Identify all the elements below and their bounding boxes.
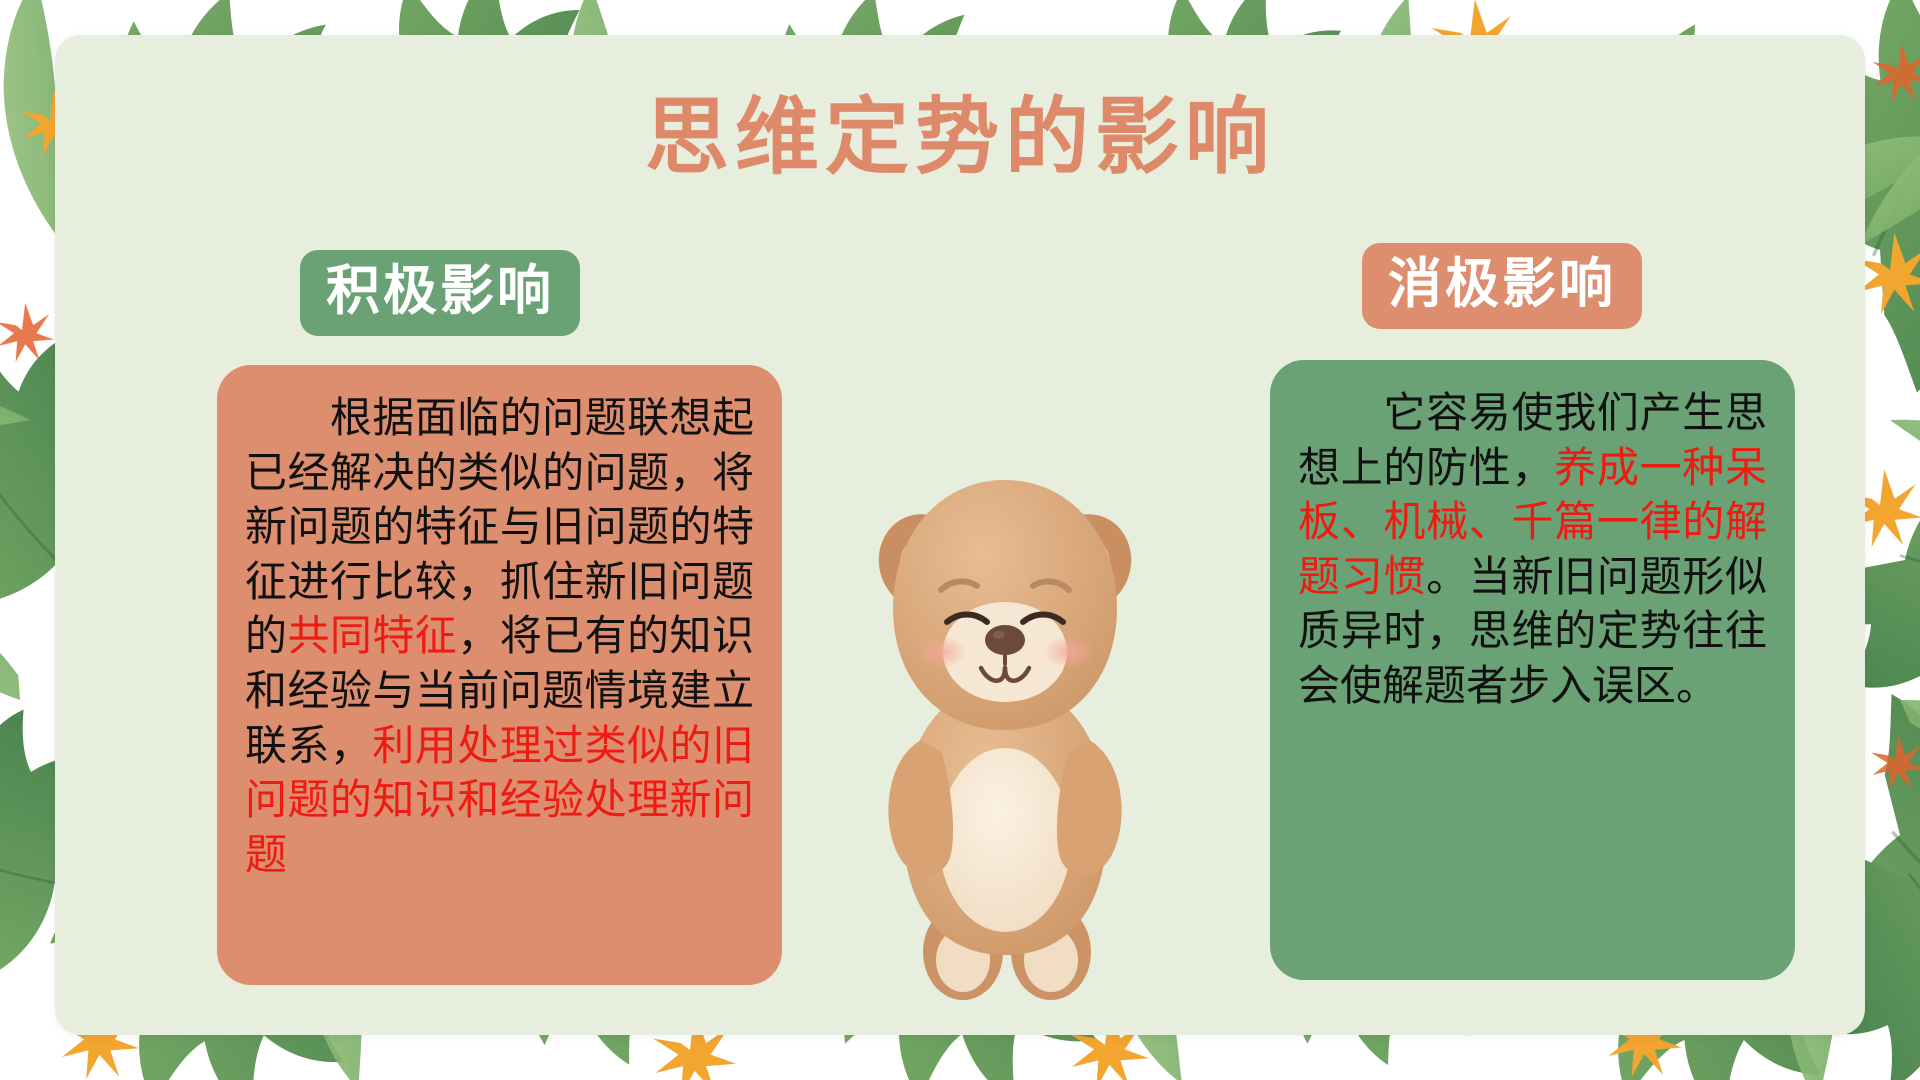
text-segment-1: 共同特征 bbox=[287, 612, 457, 659]
bear-illustration bbox=[855, 440, 1155, 1010]
positive-text-run: 根据面临的问题联想起已经解决的类似的问题，将新问题的特征与旧问题的特征进行比较，… bbox=[245, 394, 754, 878]
negative-text-run: 它容易使我们产生思想上的防性，养成一种呆板、机械、千篇一律的解题习惯。当新旧问题… bbox=[1298, 389, 1767, 709]
page-title: 思维定势的影响 bbox=[55, 97, 1865, 181]
badge-positive-influence: 积极影响 bbox=[300, 250, 580, 336]
positive-influence-text-box: 根据面临的问题联想起已经解决的类似的问题，将新问题的特征与旧问题的特征进行比较，… bbox=[217, 365, 782, 985]
negative-influence-text-box: 它容易使我们产生思想上的防性，养成一种呆板、机械、千篇一律的解题习惯。当新旧问题… bbox=[1270, 360, 1795, 980]
slide-card: 思维定势的影响 积极影响 消极影响 根据面临的问题联想起已经解决的类似的问题，将… bbox=[55, 35, 1865, 1035]
badge-negative-influence: 消极影响 bbox=[1362, 243, 1642, 329]
